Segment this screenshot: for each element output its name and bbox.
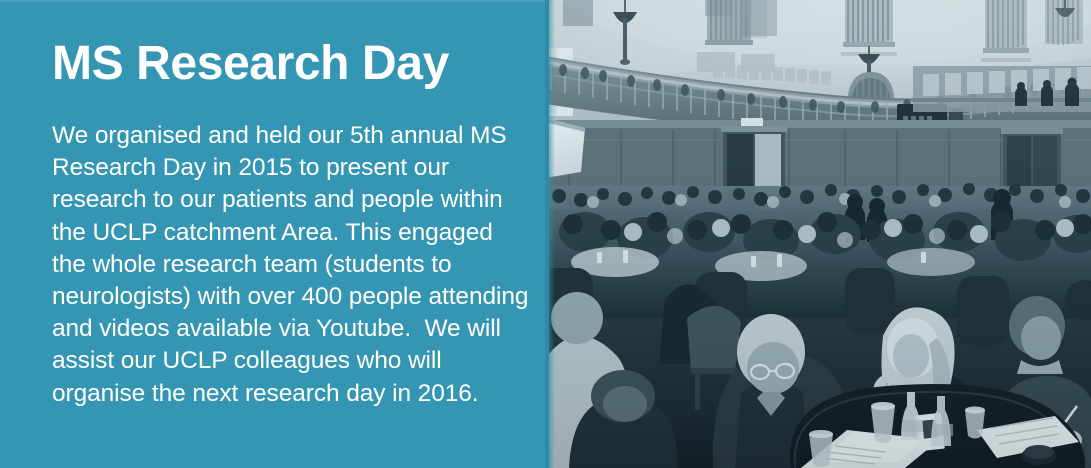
body-paragraph: We organised and held our 5th annual MS … — [52, 120, 530, 410]
panel-top-hairline — [0, 0, 545, 2]
ms-research-day-banner: MS Research Day We organised and held ou… — [0, 0, 1091, 468]
page-title: MS Research Day — [52, 36, 449, 92]
duotone-tint — [545, 0, 1091, 468]
conference-hall-photo — [545, 0, 1091, 468]
photo-left-seam — [545, 0, 555, 468]
text-panel: MS Research Day We organised and held ou… — [0, 0, 545, 468]
conference-hall-photo-illustration — [545, 0, 1091, 468]
